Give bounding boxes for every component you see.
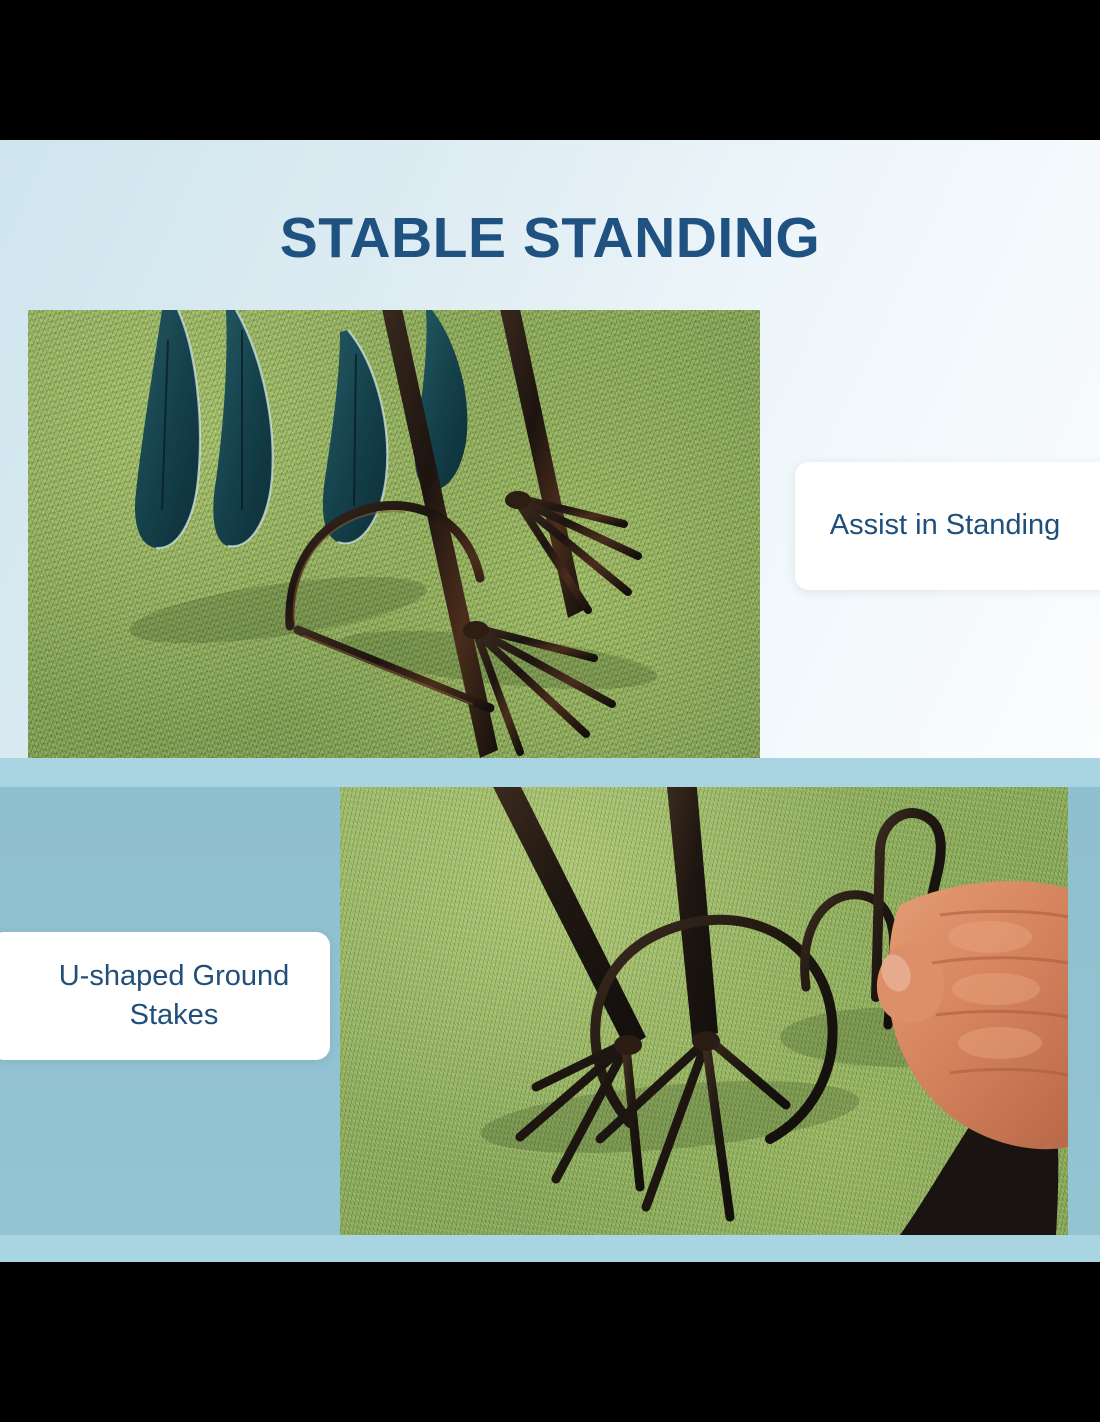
letterbox-bar-top bbox=[0, 0, 1100, 140]
photo-stake-on-turf bbox=[28, 310, 760, 758]
callout-label: Assist in Standing bbox=[830, 506, 1061, 545]
photo-hand-holding-stake bbox=[340, 787, 1068, 1235]
lower-separator-band bbox=[0, 1235, 1100, 1262]
stake-and-hand-illustration bbox=[340, 787, 1068, 1235]
upper-separator-band bbox=[0, 758, 1100, 788]
callout-assist-in-standing: Assist in Standing bbox=[795, 462, 1100, 590]
letterbox-bar-bottom bbox=[0, 1262, 1100, 1422]
stake-illustration bbox=[28, 310, 760, 758]
promo-banner: STABLE STANDING bbox=[0, 0, 1100, 1422]
callout-label: U-shaped Ground Stakes bbox=[18, 957, 330, 1035]
page-title: STABLE STANDING bbox=[0, 205, 1100, 271]
callout-u-shaped-ground-stakes: U-shaped Ground Stakes bbox=[0, 932, 330, 1060]
